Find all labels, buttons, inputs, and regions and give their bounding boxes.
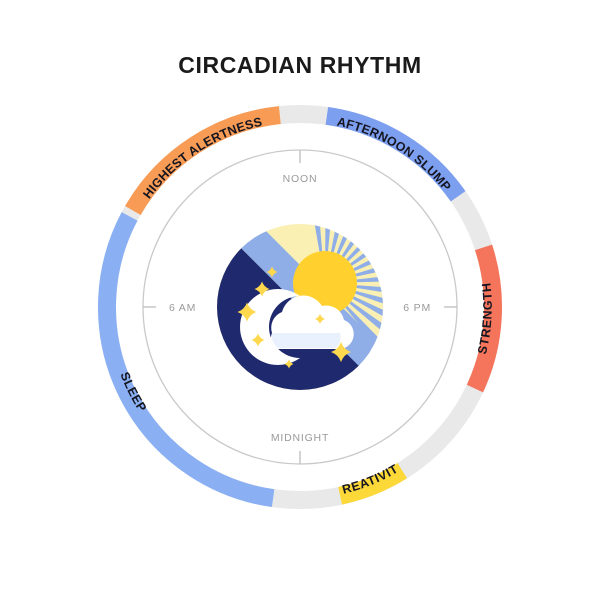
- clock-tick-label: NOON: [283, 173, 318, 185]
- ring-segment-label: HIGHEST ALERTNESS: [140, 115, 263, 202]
- circadian-wheel: NOON6 PMMIDNIGHT6 AM HIGHEST ALERTNESSAF…: [0, 0, 600, 600]
- clock-tick-label: 6 PM: [403, 302, 431, 314]
- clock-tick-label: 6 AM: [169, 302, 196, 314]
- circadian-rhythm-infographic: CIRCADIAN RHYTHM NOON6 PMMIDNIGHT6 AM HI…: [0, 0, 600, 600]
- clock-tick-label: MIDNIGHT: [271, 432, 329, 444]
- day-night-circle-icon: [210, 163, 445, 402]
